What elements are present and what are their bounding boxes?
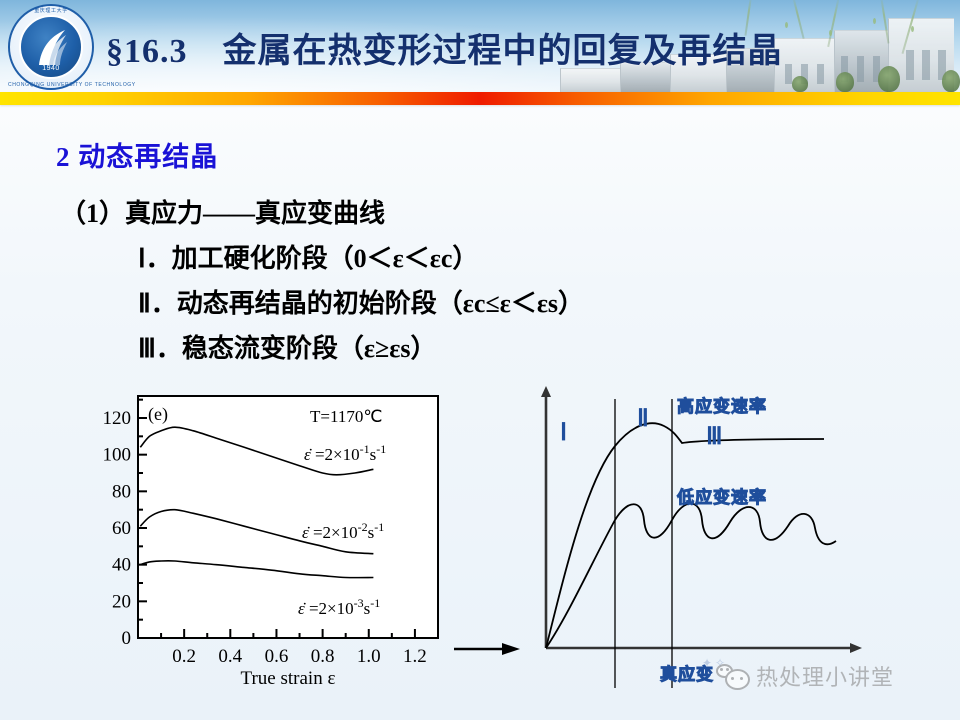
chart-y-tick-label: 120 bbox=[103, 408, 132, 429]
chart-y-tick-label: 80 bbox=[112, 481, 131, 502]
stage-marker-1: Ⅰ bbox=[560, 418, 567, 447]
logo-swirl-mark bbox=[35, 27, 71, 69]
body-line-stage-1: Ⅰ．加工硬化阶段（0＜ε＜εc） bbox=[138, 238, 478, 275]
chart-x-axis-label: True strain ε bbox=[241, 668, 336, 689]
body-line-stage-3: Ⅲ．稳态流变阶段（ε≥εs） bbox=[138, 328, 437, 365]
low-strain-rate-curve bbox=[546, 504, 836, 649]
chart-y-tick-label: 100 bbox=[103, 445, 132, 466]
logo-arc-text-en: CHONGQING UNIVERSITY OF TECHNOLOGY bbox=[8, 82, 94, 88]
wechat-icon bbox=[716, 662, 750, 690]
logo-arc-text-cn: 重庆理工大学 bbox=[8, 7, 94, 14]
svg-text:ε̇ =2×10-2s-1: ε̇ =2×10-2s-1 bbox=[302, 520, 384, 542]
right-arrow-between-charts bbox=[452, 632, 528, 666]
high-strain-rate-label: 高应变速率 bbox=[677, 392, 767, 417]
university-logo: 重庆理工大学 1940 CHONGQING UNIVERSITY OF TECH… bbox=[8, 4, 94, 90]
logo-inner-disc: 1940 bbox=[19, 15, 83, 79]
chart-x-tick-label: 1.0 bbox=[357, 646, 381, 667]
svg-text:ε̇ =2×10-1s-1: ε̇ =2×10-1s-1 bbox=[304, 442, 386, 464]
chart-strain-rate-annotation-3: ε̇ =2×10-3s-1 bbox=[298, 596, 380, 618]
watermark: 热处理小讲堂 bbox=[716, 660, 894, 692]
diagram-x-axis-arrowhead bbox=[850, 643, 862, 653]
body-line-stage-2: Ⅱ．动态再结晶的初始阶段（εc≤ε＜εs） bbox=[138, 283, 584, 320]
chart-strain-rate-annotation-2: ε̇ =2×10-2s-1 bbox=[302, 520, 384, 542]
low-strain-rate-label: 低应变速率 bbox=[677, 483, 767, 508]
header-banner: 重庆理工大学 1940 CHONGQING UNIVERSITY OF TECH… bbox=[0, 0, 960, 92]
chart-y-tick-label: 0 bbox=[122, 628, 132, 649]
stage-marker-2: Ⅱ bbox=[637, 404, 649, 433]
chart-y-tick-label: 40 bbox=[112, 555, 131, 576]
chart-strain-rate-annotation-1: ε̇ =2×10-1s-1 bbox=[304, 442, 386, 464]
chart-y-tick-label: 20 bbox=[112, 591, 131, 612]
chart-plot-frame bbox=[138, 396, 438, 638]
page-title: §16.3 金属在热变形过程中的回复及再结晶 bbox=[106, 23, 783, 72]
header-divider-bar bbox=[0, 92, 960, 105]
high-strain-rate-curve bbox=[546, 423, 824, 648]
section-heading: 2 动态再结晶 bbox=[56, 135, 218, 174]
body-line-subsection: （1）真应力——真应变曲线 bbox=[60, 193, 385, 230]
chart-x-tick-label: 0.6 bbox=[265, 646, 289, 667]
chart-x-tick-label: 0.2 bbox=[172, 646, 196, 667]
chart-y-axis-tick-labels: 020406080100120 bbox=[103, 408, 132, 649]
chart-panel-label: (e) bbox=[148, 404, 168, 425]
stage-marker-3: Ⅲ bbox=[706, 422, 723, 451]
diagram-y-axis-arrowhead bbox=[541, 386, 551, 397]
watermark-text: 热处理小讲堂 bbox=[756, 660, 894, 692]
svg-text:ε̇ =2×10-3s-1: ε̇ =2×10-3s-1 bbox=[298, 596, 380, 618]
chart-x-axis-tick-labels: 0.20.40.60.81.01.2 bbox=[172, 646, 427, 667]
chart-x-tick-label: 0.8 bbox=[311, 646, 335, 667]
chart-x-tick-label: 1.2 bbox=[403, 646, 427, 667]
true-stress-strain-chart: 020406080100120 0.20.40.60.81.01.2 (e) T… bbox=[96, 388, 452, 694]
chart-temperature-annotation: T=1170℃ bbox=[310, 407, 382, 426]
logo-founding-year: 1940 bbox=[21, 65, 81, 72]
chart-y-tick-label: 60 bbox=[112, 518, 131, 539]
chart-x-tick-label: 0.4 bbox=[218, 646, 242, 667]
